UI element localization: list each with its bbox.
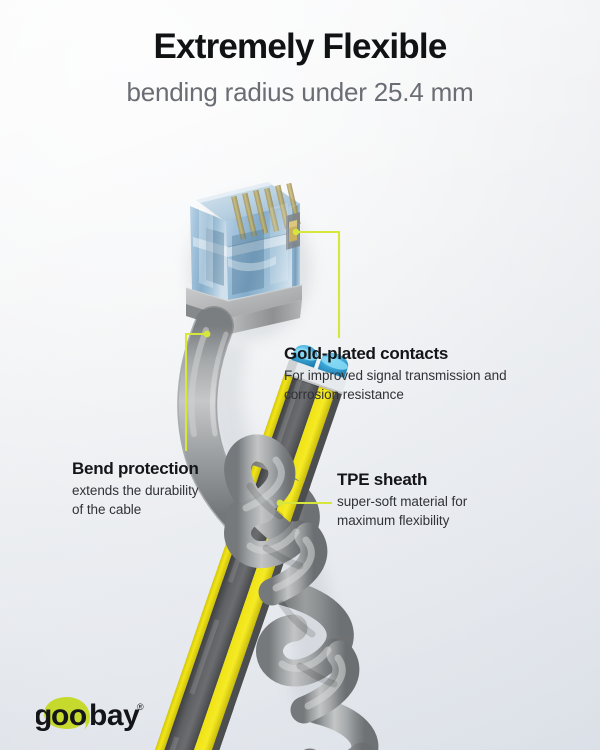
infographic-canvas: Extremely Flexible bending radius under …: [0, 0, 600, 750]
callout-body-line-2: maximum flexibility: [337, 512, 527, 530]
callout-title: Gold-plated contacts: [284, 344, 554, 364]
callout-gold-plated-contacts: Gold-plated contacts For improved signal…: [284, 344, 554, 404]
logo-text-lead: g: [36, 699, 52, 732]
callout-title: TPE sheath: [337, 470, 527, 490]
logo-registered-mark: ®: [137, 702, 144, 712]
logo-text-bubble: oo: [51, 699, 87, 732]
logo-text-tail: bay: [89, 699, 140, 732]
page-subtitle: bending radius under 25.4 mm: [0, 78, 600, 108]
callout-body-line-1: super-soft material for: [337, 493, 527, 511]
callout-bend-protection: Bend protection extends the durability o…: [72, 459, 252, 519]
callout-body-line-1: extends the durability: [72, 482, 252, 500]
callout-body-line-2: corrosion resistance: [284, 386, 554, 404]
callout-tpe-sheath: TPE sheath super-soft material for maxim…: [337, 470, 527, 530]
callout-body-line-1: For improved signal transmission and: [284, 367, 554, 385]
callout-title: Bend protection: [72, 459, 252, 479]
page-title: Extremely Flexible: [0, 28, 600, 67]
callout-body-line-2: of the cable: [72, 501, 252, 519]
goobay-logo: g oo bay ®: [36, 694, 164, 734]
